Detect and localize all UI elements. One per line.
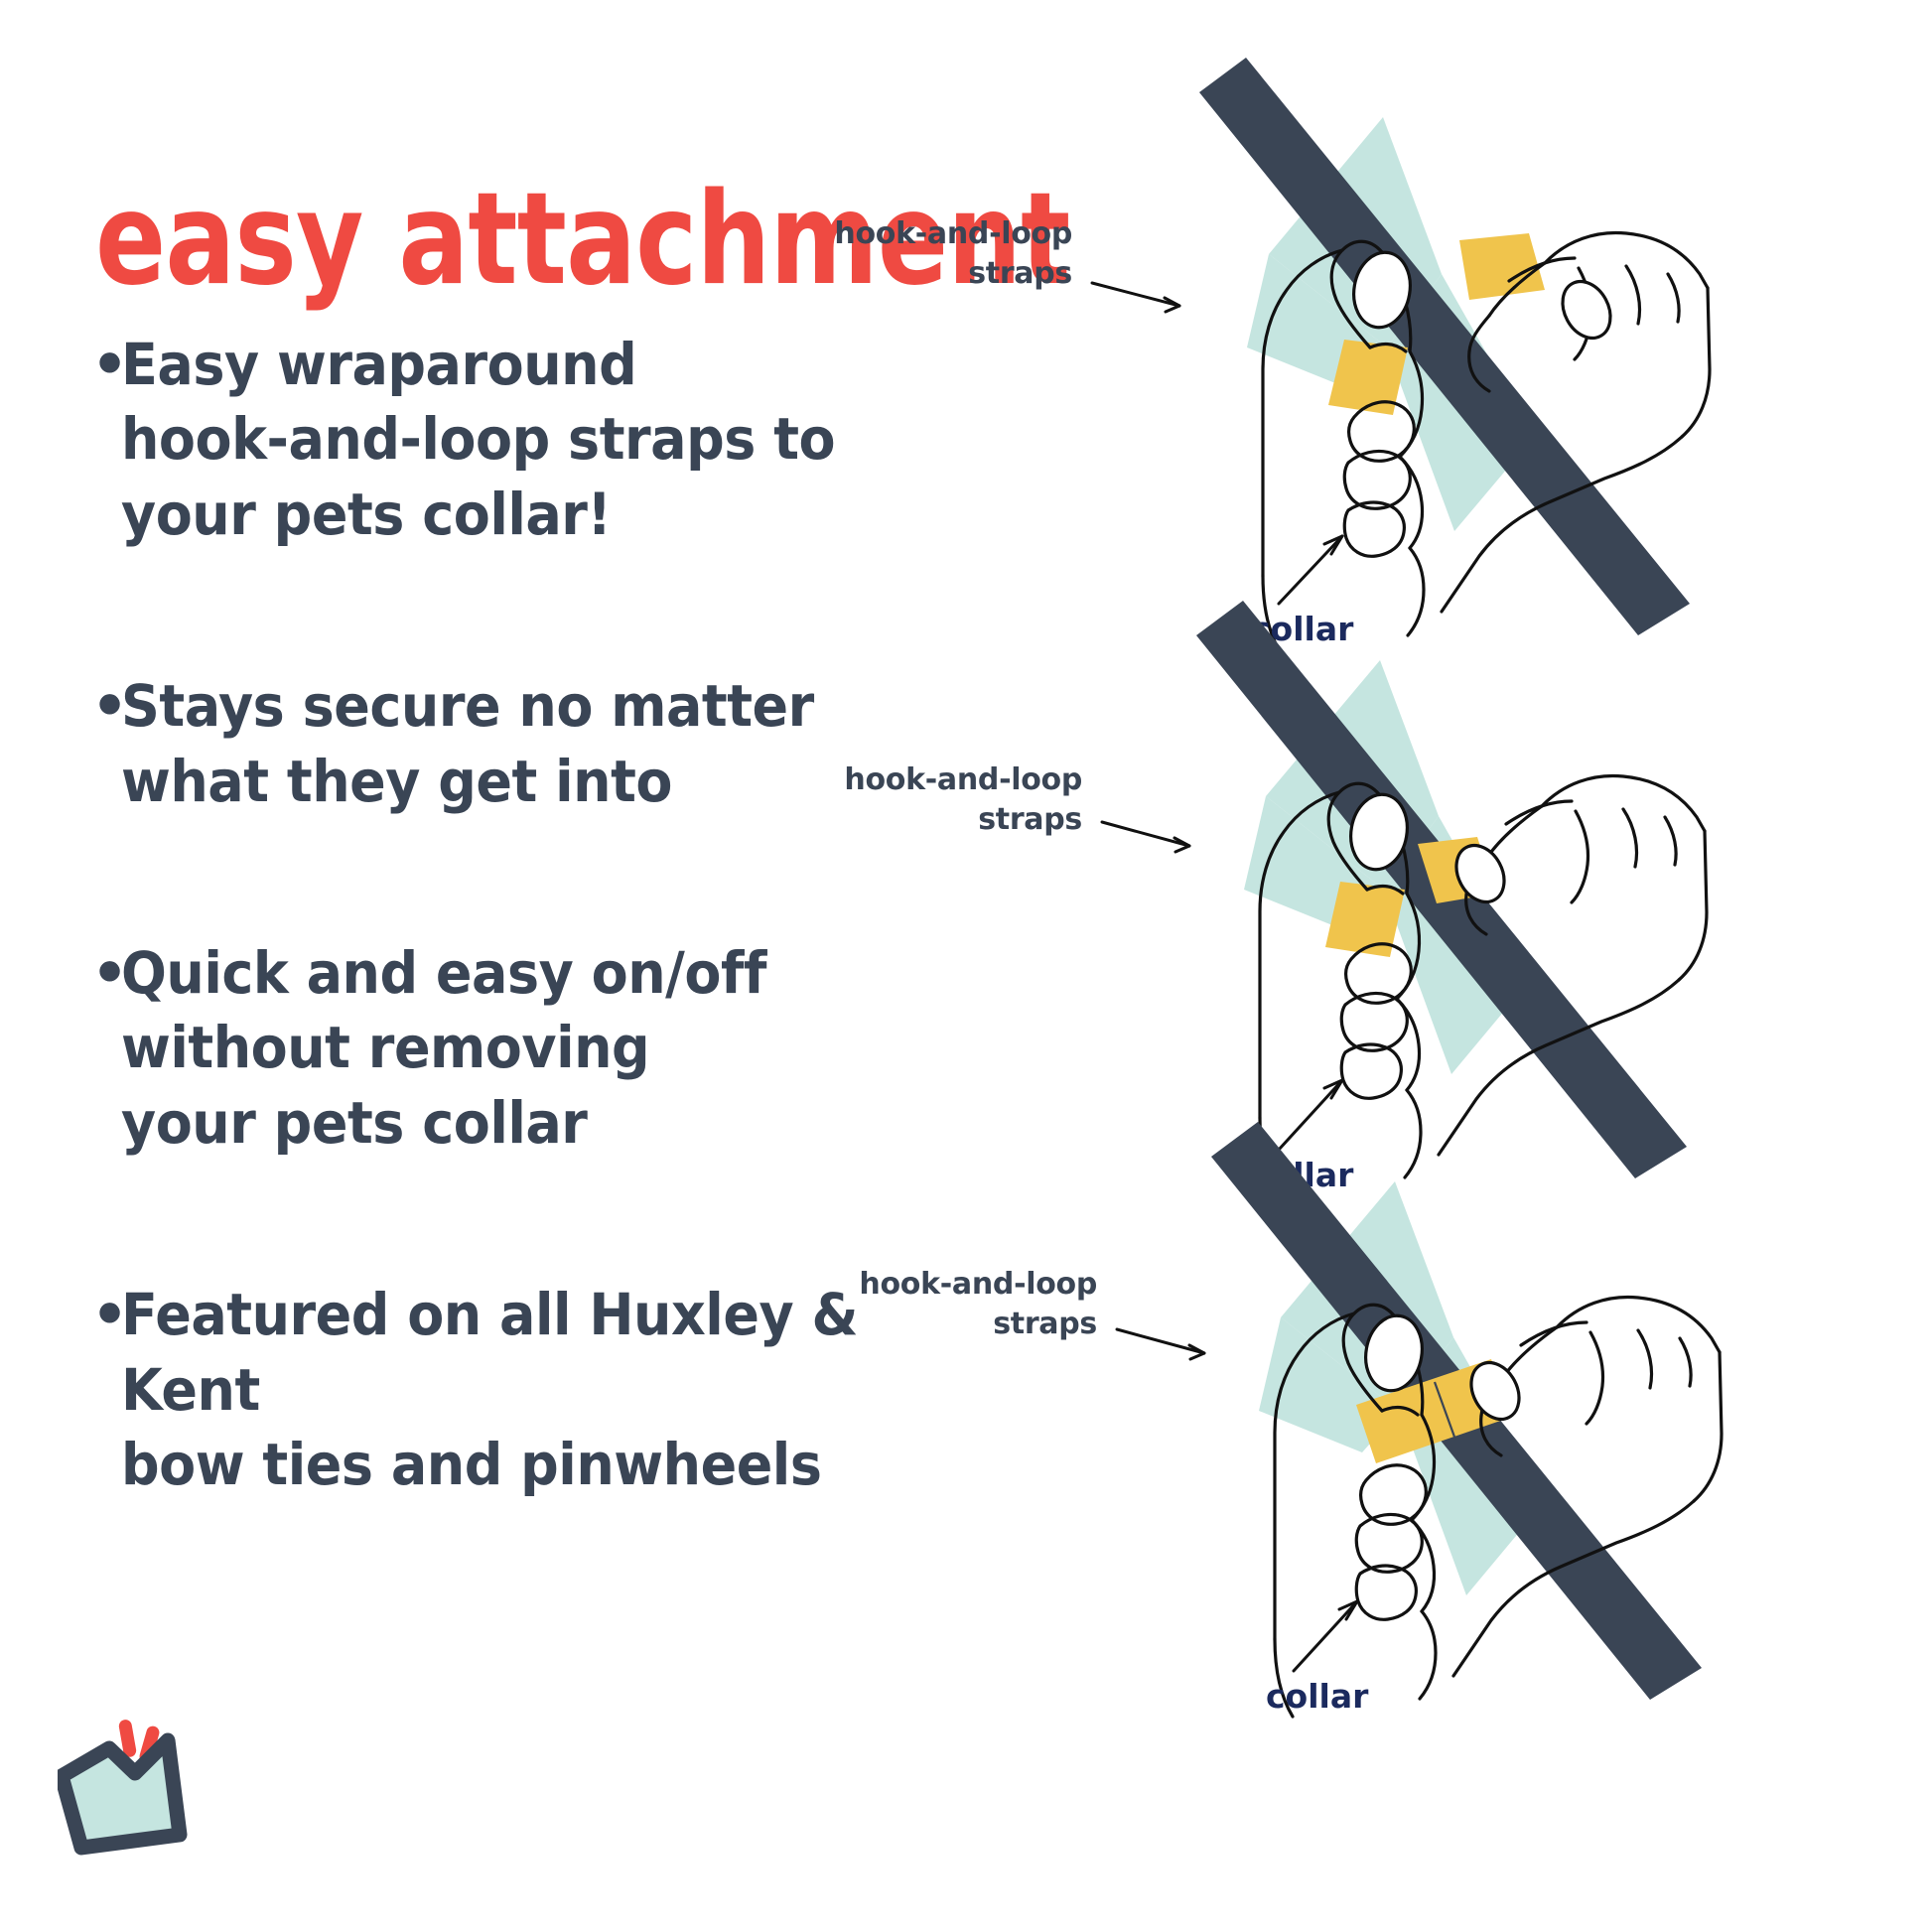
arrow-icon <box>1102 822 1189 852</box>
straps-label-line1: hook-and-loop <box>844 762 1082 797</box>
list-item-label: Quick and easy on/off without removing y… <box>121 936 906 1161</box>
bullet-marker: • <box>91 669 121 744</box>
illustration-panel-3: hook-and-loop straps collar <box>968 1087 1752 1742</box>
straps-label-line1: hook-and-loop <box>834 216 1072 251</box>
crown-logo <box>58 1678 256 1876</box>
bullet-marker: • <box>91 936 121 1011</box>
bullet-marker: • <box>91 328 121 402</box>
list-item-label: Easy wraparound hook-and-loop straps to … <box>121 328 906 552</box>
feature-list: • Easy wraparound hook-and-loop straps t… <box>91 328 965 1502</box>
poster-canvas: easy attachment • Easy wraparound hook-a… <box>0 0 1932 1932</box>
list-item: • Featured on all Huxley & Kent bow ties… <box>91 1278 965 1502</box>
list-item-label: Featured on all Huxley & Kent bow ties a… <box>121 1278 906 1502</box>
collar-callout: collar <box>1266 1601 1369 1716</box>
crown-icon <box>62 1740 180 1848</box>
arrow-icon <box>1092 283 1179 312</box>
straps-label-line2: straps <box>993 1307 1097 1341</box>
list-item-label: Stays secure no matter what they get int… <box>121 669 906 819</box>
list-item: • Stays secure no matter what they get i… <box>91 669 965 819</box>
list-item: • Easy wraparound hook-and-loop straps t… <box>91 328 965 552</box>
straps-label-line1: hook-and-loop <box>859 1267 1097 1302</box>
collar-label: collar <box>1266 1677 1369 1716</box>
straps-label-line2: straps <box>968 256 1072 291</box>
list-item: • Quick and easy on/off without removing… <box>91 936 965 1161</box>
bullet-marker: • <box>91 1278 121 1352</box>
arrow-icon <box>1294 1601 1357 1671</box>
straps-label-line2: straps <box>978 802 1082 837</box>
arrow-icon <box>1117 1329 1204 1359</box>
